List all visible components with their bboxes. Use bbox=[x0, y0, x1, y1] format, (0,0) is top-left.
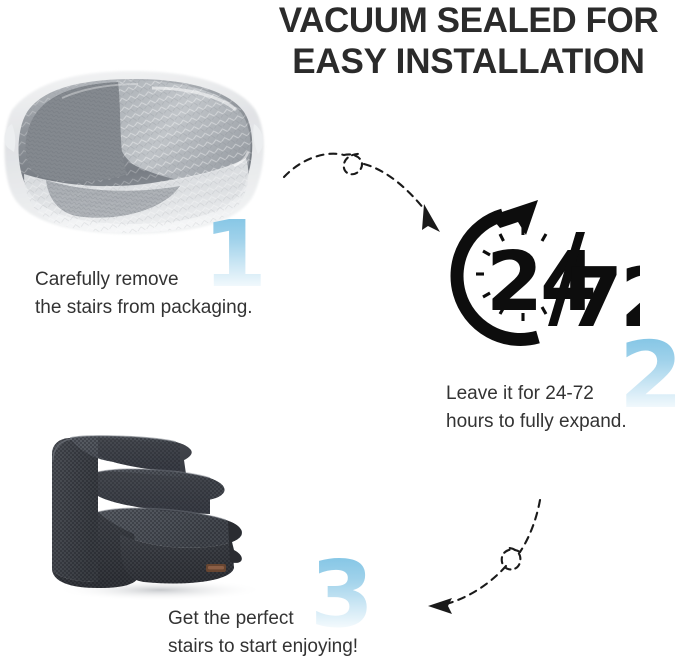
page-title-line-2: EASY INSTALLATION bbox=[258, 41, 679, 82]
step-1-caption: Carefully remove the stairs from packagi… bbox=[35, 266, 253, 322]
infographic-canvas: VACUUM SEALED FOR EASY INSTALLATION bbox=[0, 0, 679, 663]
arrow-step1-to-step2-icon bbox=[282, 140, 458, 240]
step-3-caption-line-1: Get the perfect bbox=[168, 605, 358, 633]
pet-stairs-image bbox=[34, 420, 274, 600]
step-2-caption-line-2: hours to fully expand. bbox=[446, 408, 627, 436]
step-2-caption-line-1: Leave it for 24-72 bbox=[446, 380, 627, 408]
brand-tag-icon bbox=[206, 564, 226, 572]
clock-24-72-icon: 24 72 bbox=[440, 198, 640, 353]
step-3-caption: Get the perfect stairs to start enjoying… bbox=[168, 605, 358, 661]
step-1-caption-line-1: Carefully remove bbox=[35, 266, 253, 294]
step-3-caption-line-2: stairs to start enjoying! bbox=[168, 633, 358, 661]
arrow-step2-to-step3-icon bbox=[424, 498, 600, 626]
page-title-line-1: VACUUM SEALED FOR bbox=[258, 0, 679, 41]
step-2-caption: Leave it for 24-72 hours to fully expand… bbox=[446, 380, 627, 436]
step-number-2: 2 bbox=[619, 330, 679, 422]
step-1-caption-line-2: the stairs from packaging. bbox=[35, 294, 253, 322]
page-title: VACUUM SEALED FOR EASY INSTALLATION bbox=[258, 0, 679, 82]
